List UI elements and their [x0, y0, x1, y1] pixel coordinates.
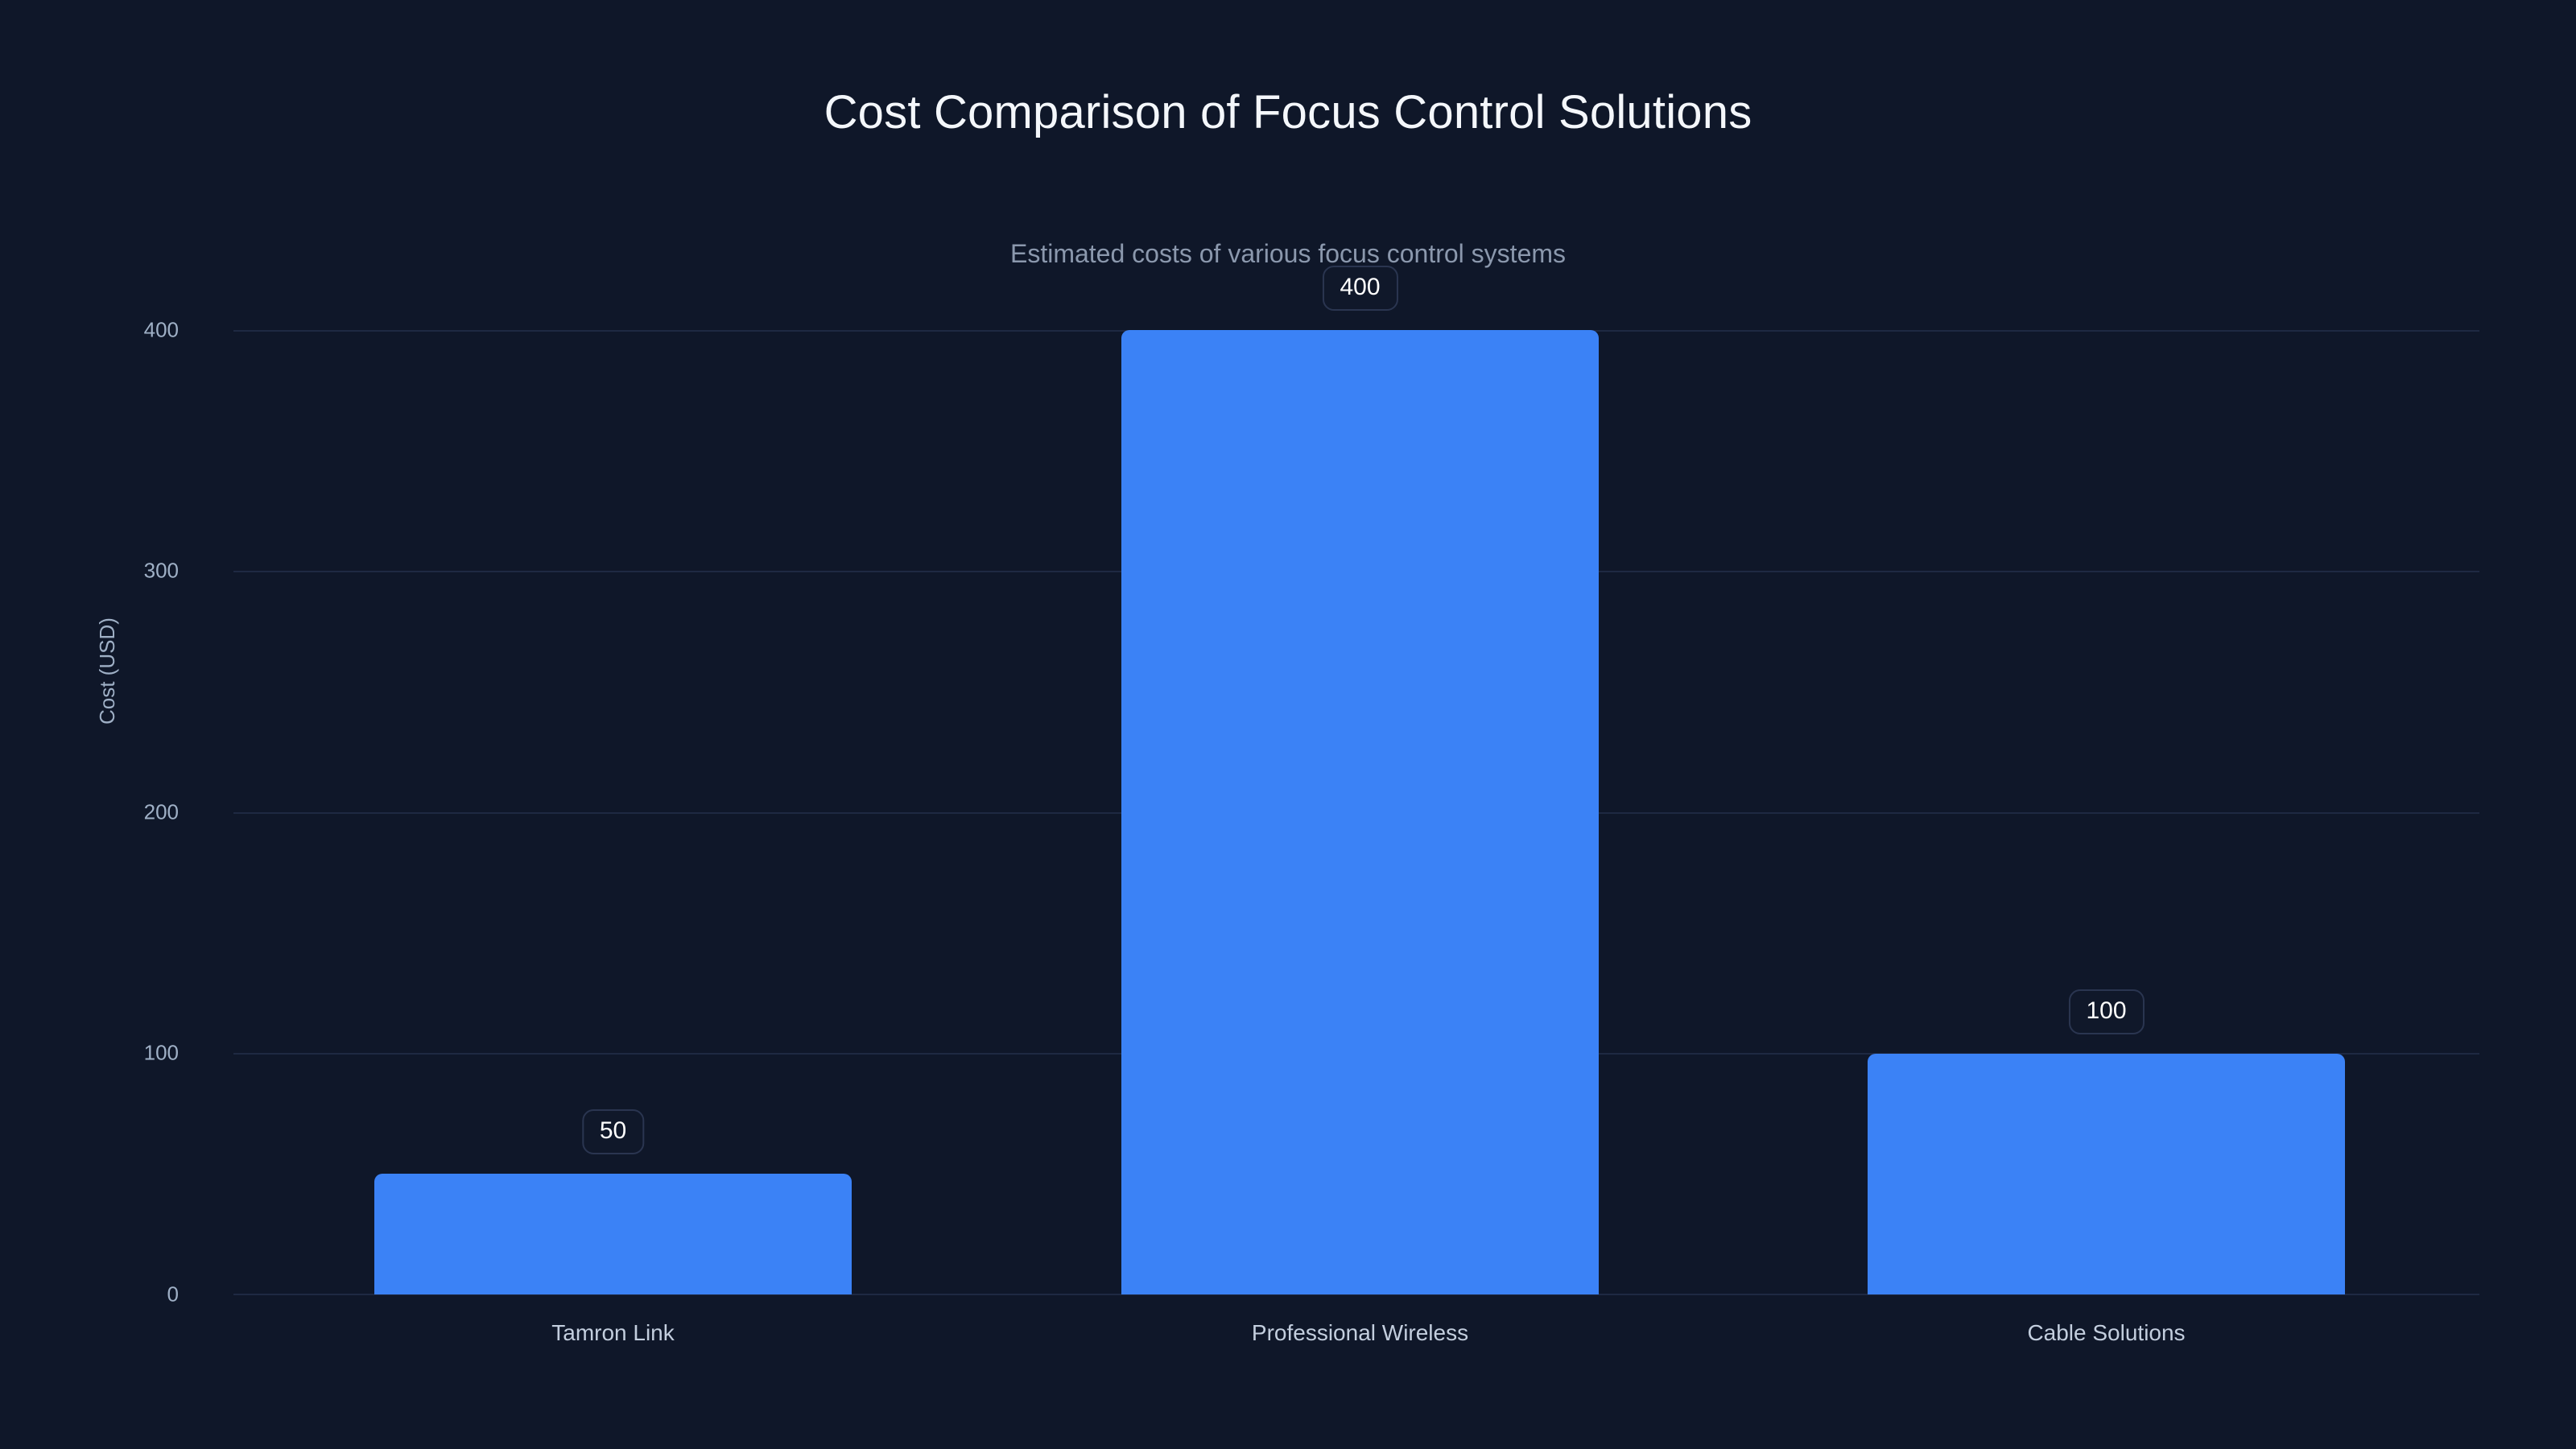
bar-professional-wireless[interactable]: [1121, 330, 1599, 1294]
chart-subtitle: Estimated costs of various focus control…: [0, 240, 2576, 268]
y-tick-label-400: 400: [144, 318, 179, 343]
value-label-cable-solutions: 100: [2068, 989, 2144, 1034]
y-tick-label-0: 0: [167, 1282, 179, 1307]
value-label-professional-wireless: 400: [1322, 266, 1397, 311]
bar-cable-solutions[interactable]: [1868, 1054, 2345, 1294]
y-tick-label-200: 200: [144, 800, 179, 825]
y-axis-tick-labels: 400 300 200 100 0: [0, 330, 201, 1294]
y-tick-label-100: 100: [144, 1041, 179, 1066]
x-tick-label-professional-wireless: Professional Wireless: [1252, 1320, 1468, 1346]
x-tick-label-tamron-link: Tamron Link: [551, 1320, 675, 1346]
plot-area: 50 400 100: [233, 330, 2479, 1294]
bar-chart-figure: Cost Comparison of Focus Control Solutio…: [0, 0, 2576, 1449]
chart-title: Cost Comparison of Focus Control Solutio…: [0, 87, 2576, 138]
value-label-tamron-link: 50: [582, 1109, 644, 1154]
bar-tamron-link[interactable]: [374, 1174, 852, 1294]
x-axis-category-labels: Tamron Link Professional Wireless Cable …: [233, 1320, 2479, 1360]
x-tick-label-cable-solutions: Cable Solutions: [2027, 1320, 2185, 1346]
y-tick-label-300: 300: [144, 559, 179, 584]
